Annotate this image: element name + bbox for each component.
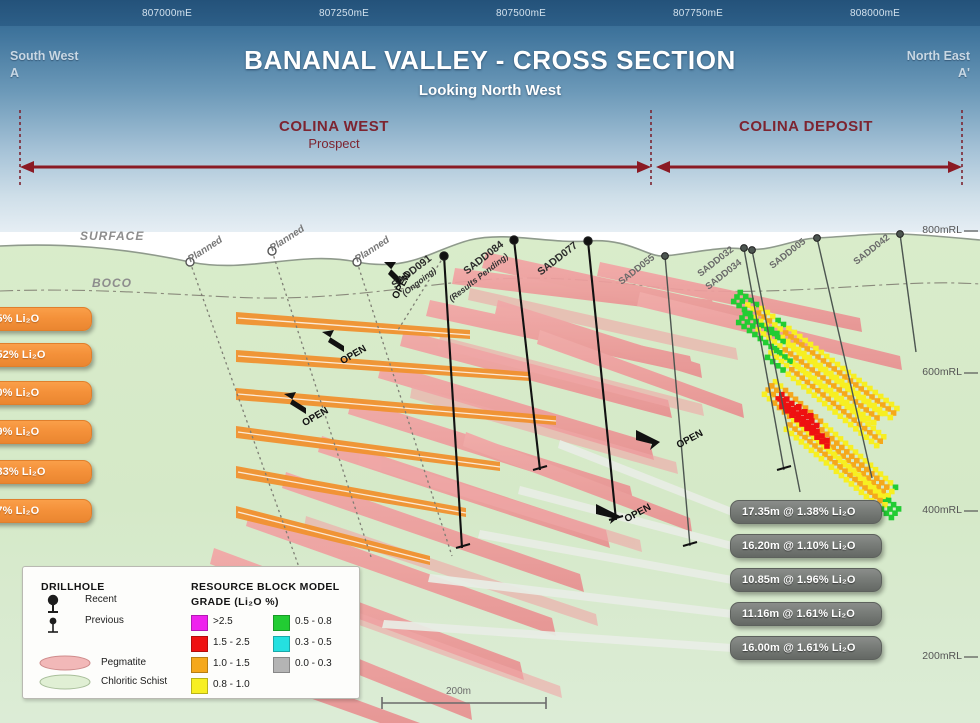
grade-block: [799, 439, 805, 445]
grade-block-core: [784, 402, 790, 408]
grade-bin-left-swatch-3: [191, 678, 208, 694]
grade-block-core: [819, 433, 825, 439]
grade-block: [747, 328, 753, 334]
cross-section-figure: 807000mE807250mE807500mE807750mE808000mE…: [0, 0, 980, 723]
grade-block: [736, 320, 742, 326]
grade-block: [731, 299, 737, 305]
grade-block: [860, 412, 866, 418]
grade-bin-left-label-0: >2.5: [213, 616, 233, 627]
result-callout-west-2[interactable]: 9.66m @ 1.10% Li₂O: [0, 381, 92, 405]
grade-bin-right-label-1: 0.3 - 0.5: [295, 637, 332, 648]
drillhole-recent-icon: [48, 595, 58, 612]
legend-label-pegmatite: Pegmatite: [101, 657, 146, 668]
grade-block: [869, 439, 875, 445]
collar-SADD077: [584, 237, 592, 245]
grade-block: [844, 477, 850, 483]
collar-SADD084: [510, 236, 518, 244]
grade-block: [859, 490, 865, 496]
grade-block-core: [789, 407, 795, 413]
grade-block: [871, 420, 877, 426]
legend-grade-title-line1: RESOURCE BLOCK MODEL: [191, 581, 340, 593]
grade-block: [763, 340, 769, 346]
grade-block: [848, 422, 854, 428]
grade-block: [822, 401, 828, 407]
result-callout-east-1[interactable]: 16.20m @ 1.10% Li₂O: [730, 534, 882, 558]
legend-panel: DRILLHOLE Recent Previous Pegmatite Chlo…: [22, 566, 360, 699]
grade-block-core: [794, 417, 800, 423]
grade-block: [832, 409, 838, 415]
grade-block: [827, 405, 833, 411]
grade-block: [874, 443, 880, 449]
grade-block: [786, 371, 792, 377]
pegmatite-icon: [40, 656, 90, 670]
elevation-label-3: 200mRL: [922, 650, 962, 662]
grade-block: [884, 511, 890, 517]
grade-block: [801, 384, 807, 390]
elevation-label-0: 800mRL: [922, 224, 962, 236]
result-callout-east-2[interactable]: 10.85m @ 1.96% Li₂O: [730, 568, 882, 592]
grade-block: [736, 303, 742, 309]
grade-bin-left-swatch-0: [191, 615, 208, 631]
grade-block-core: [796, 404, 802, 410]
collar-SADD091: [440, 252, 448, 260]
grade-bin-right-swatch-1: [273, 636, 290, 652]
grade-block: [849, 404, 855, 410]
result-callout-west-3[interactable]: 4.40m @ 1.69% Li₂O: [0, 420, 92, 444]
collar-SADD034: [749, 247, 756, 254]
result-callout-east-0[interactable]: 17.35m @ 1.38% Li₂O: [730, 500, 882, 524]
grade-block: [765, 355, 771, 361]
grade-block: [849, 481, 855, 487]
grade-block-core: [814, 434, 820, 440]
grade-block-core: [814, 429, 820, 435]
drillhole-previous-icon: [48, 618, 58, 632]
scale-bar-label: 200m: [446, 686, 471, 697]
result-callout-west-5[interactable]: 9.74m @ 1.37% Li₂O: [0, 499, 92, 523]
grade-block: [839, 473, 845, 479]
grade-block: [834, 469, 840, 475]
grade-bin-right-label-0: 0.5 - 0.8: [295, 616, 332, 627]
grade-block: [853, 426, 859, 432]
elevation-label-1: 600mRL: [922, 366, 962, 378]
grade-block: [889, 515, 895, 521]
grade-bin-right-swatch-2: [273, 657, 290, 673]
grade-bin-right-swatch-0: [273, 615, 290, 631]
elevation-label-2: 400mRL: [922, 504, 962, 516]
grade-block-core: [824, 438, 830, 444]
result-callout-east-3[interactable]: 11.16m @ 1.61% Li₂O: [730, 602, 882, 626]
result-callout-west-4[interactable]: 33.05m @ 1.83% Li₂O: [0, 460, 92, 484]
grade-block-core: [824, 443, 830, 449]
grade-block-core: [784, 408, 790, 414]
grade-block-core: [809, 430, 815, 436]
grade-bin-left-label-3: 0.8 - 1.0: [213, 679, 250, 690]
result-callout-west-0[interactable]: 5.48m @ 1.35% Li₂O: [0, 307, 92, 331]
grade-block: [854, 485, 860, 491]
chloritic-schist-icon: [40, 675, 90, 689]
result-callout-west-1[interactable]: 14.66m @ 1.52% Li₂O: [0, 343, 92, 367]
grade-block-core: [819, 439, 825, 445]
grade-block-core: [804, 420, 810, 426]
grade-block: [888, 415, 894, 421]
grade-block: [741, 324, 747, 330]
grade-block-core: [789, 412, 795, 418]
collar-SADD055: [662, 253, 669, 260]
grade-block-core: [802, 409, 808, 415]
grade-block: [866, 416, 872, 422]
legend-label-chloritic-schist: Chloritic Schist: [101, 676, 167, 687]
geology-label-surface: SURFACE: [80, 229, 144, 243]
collar-SADD042: [897, 231, 904, 238]
legend-label-previous: Previous: [85, 615, 124, 626]
grade-block-core: [794, 411, 800, 417]
grade-block: [838, 413, 844, 419]
grade-block: [794, 435, 800, 441]
result-callout-east-4[interactable]: 16.00m @ 1.61% Li₂O: [730, 636, 882, 660]
grade-block-core: [799, 416, 805, 422]
grade-bin-left-swatch-2: [191, 657, 208, 673]
grade-block: [806, 388, 812, 394]
grade-block: [780, 367, 786, 373]
grade-bin-left-swatch-1: [191, 636, 208, 652]
grade-block: [804, 443, 810, 449]
legend-label-recent: Recent: [85, 594, 117, 605]
grade-block-core: [808, 413, 814, 419]
grade-bin-left-label-1: 1.5 - 2.5: [213, 637, 250, 648]
grade-block: [864, 434, 870, 440]
grade-block: [817, 397, 823, 403]
zone-extent-indicators: [20, 110, 962, 185]
geology-label-boco: BOCO: [92, 276, 132, 290]
grade-block-core: [799, 421, 805, 427]
grade-block: [791, 376, 797, 382]
grade-block: [864, 494, 870, 500]
grade-block: [809, 448, 815, 454]
collar-SADD032: [741, 245, 748, 252]
collar-SADD005: [814, 235, 821, 242]
grade-bin-left-label-2: 1.0 - 1.5: [213, 658, 250, 669]
grade-block: [814, 452, 820, 458]
grade-block: [812, 392, 818, 398]
grade-block: [824, 460, 830, 466]
grade-block: [843, 418, 849, 424]
grade-block: [752, 332, 758, 338]
grade-block-core: [809, 424, 815, 430]
grade-bin-right-label-2: 0.0 - 0.3: [295, 658, 332, 669]
grade-block: [796, 380, 802, 386]
grade-block-core: [804, 426, 810, 432]
legend-grade-title-line2: GRADE (Li₂O %): [191, 596, 279, 608]
grade-block: [819, 456, 825, 462]
grade-block: [829, 464, 835, 470]
grade-block: [762, 392, 768, 398]
